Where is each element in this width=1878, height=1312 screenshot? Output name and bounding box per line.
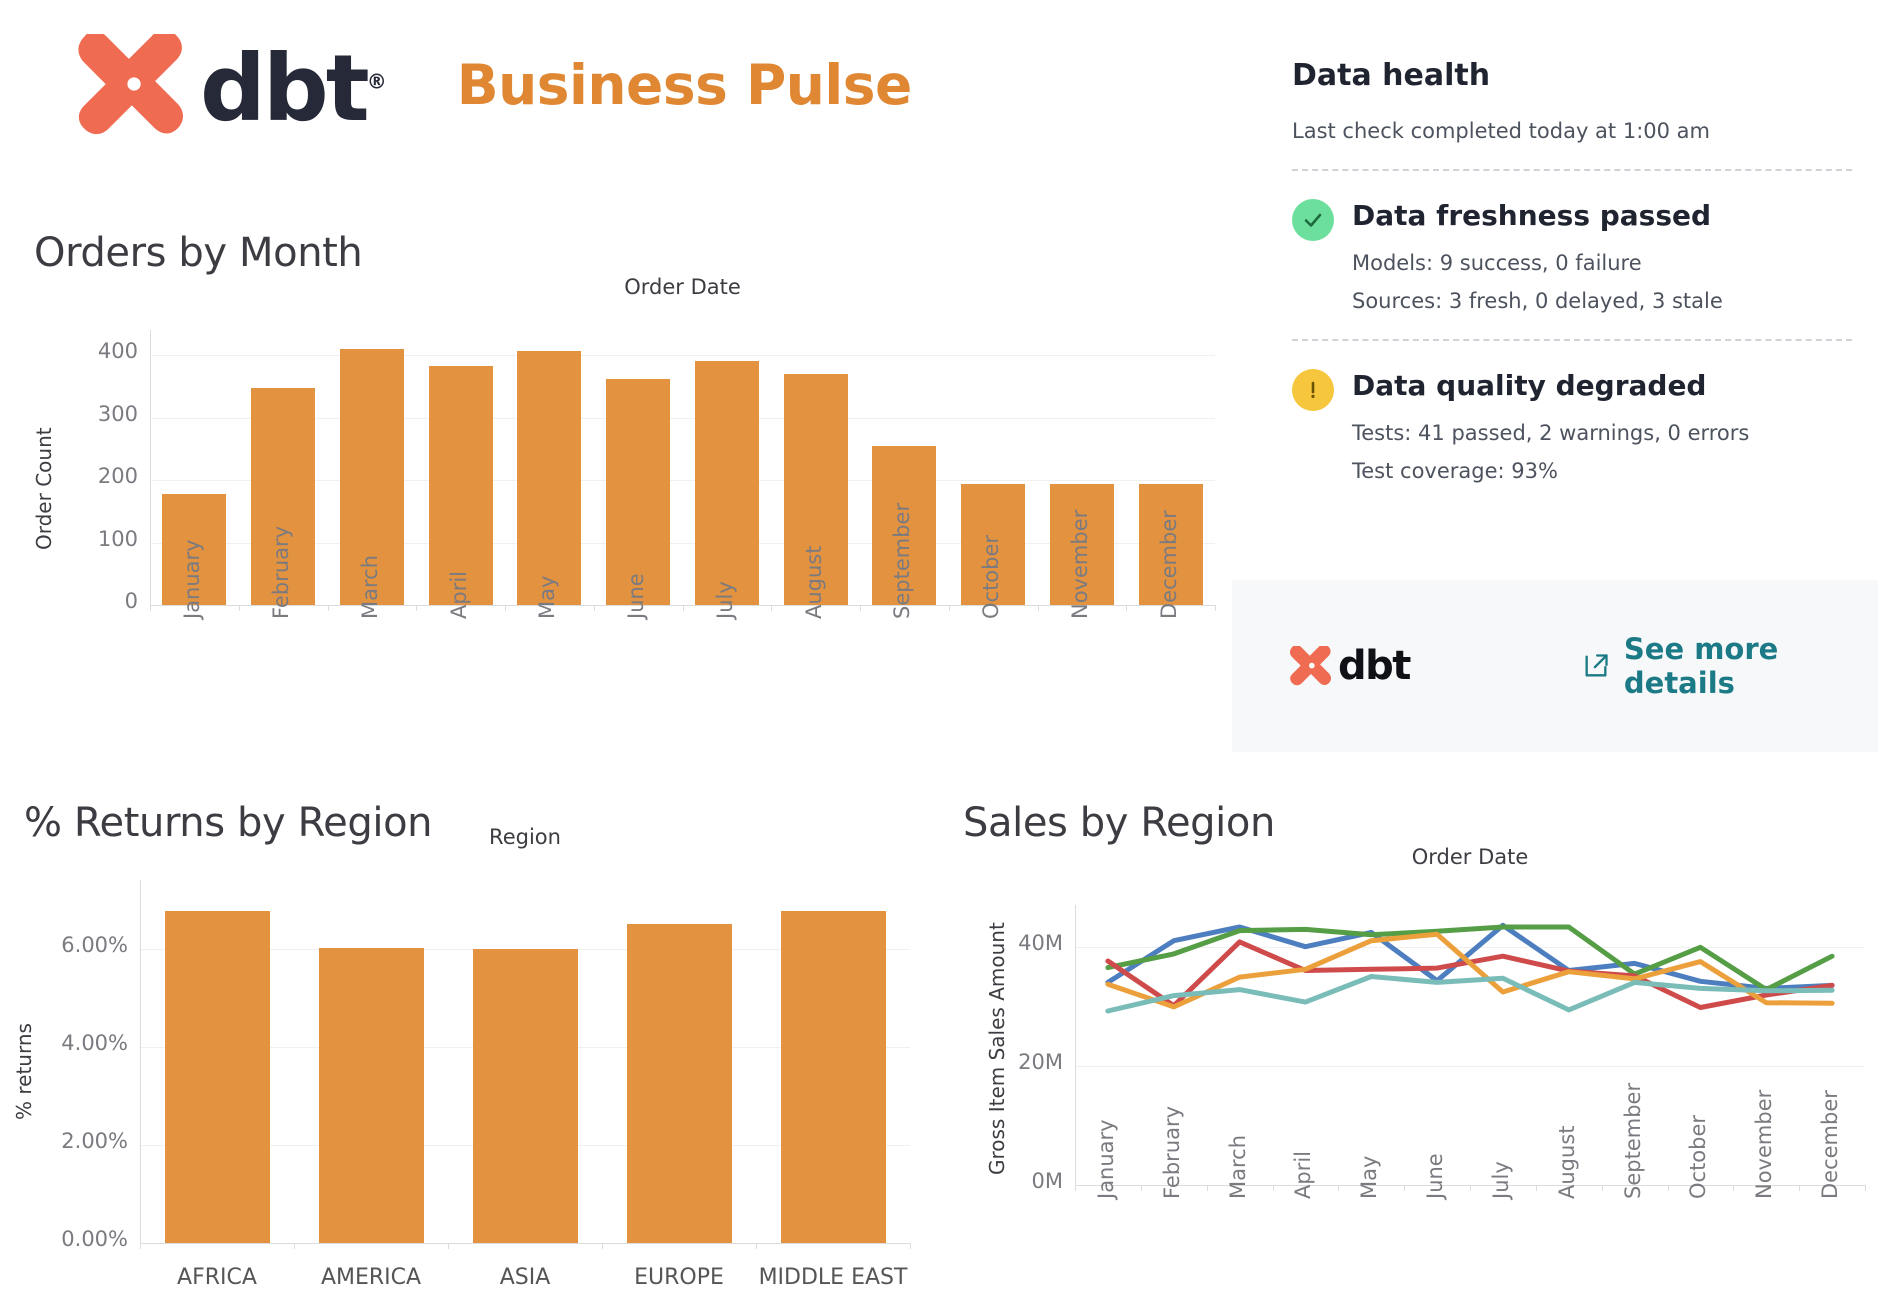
sales-x-tick-label: May [1357,1156,1381,1199]
sales-x-tick-label: April [1291,1151,1315,1199]
sales-x-tick [1602,1185,1603,1191]
sales-y-tick-label: 0M [997,1169,1063,1193]
sales-x-tick-label: June [1423,1153,1447,1199]
cta-dbt-wordmark: dbt [1338,646,1410,686]
sales-line-series-orange[interactable] [1108,934,1832,1007]
sales-x-tick-label: January [1094,1119,1118,1199]
dashboard-page: dbt® Business Pulse Orders by Month Orde… [0,0,1878,1312]
status-quality-heading: Data quality degraded [1352,367,1706,405]
sales-x-tick [1273,1185,1274,1191]
dbt-x-logo-icon [1290,646,1332,686]
data-health-title: Data health [1292,58,1852,93]
cta-dbt-logo: dbt [1290,646,1410,686]
sales-line-series-blue[interactable] [1108,925,1832,988]
divider [1292,169,1852,171]
sales-gridline [1075,947,1865,948]
last-check-text: Last check completed today at 1:00 am [1292,119,1852,143]
status-freshness-line-1: Models: 9 success, 0 failure [1352,251,1852,275]
sales-x-tick [1668,1185,1669,1191]
sales-x-tick-label: December [1818,1090,1842,1199]
sales-x-tick [1141,1185,1142,1191]
sales-line-series-green[interactable] [1108,927,1832,990]
sales-y-tick-label: 20M [997,1050,1063,1074]
sales-x-tick-label: July [1489,1161,1513,1199]
sales-gridline [1075,1066,1865,1067]
sales-x-tick [1207,1185,1208,1191]
sales-x-tick [1470,1185,1471,1191]
sales-x-tick [1733,1185,1734,1191]
sales-y-axis [1075,905,1076,1185]
sales-x-tick-label: November [1752,1090,1776,1199]
divider [1292,339,1852,341]
status-quality-line-1: Tests: 41 passed, 2 warnings, 0 errors [1352,421,1852,445]
sales-x-tick [1536,1185,1537,1191]
sales-line-series-teal[interactable] [1108,977,1832,1012]
see-more-details-card: dbt See more details [1232,580,1878,752]
see-more-details-label: See more details [1624,632,1878,700]
data-health-panel: Data health Last check completed today a… [1292,58,1852,509]
sales-x-tick [1865,1185,1866,1191]
see-more-details-link[interactable]: See more details [1582,632,1878,700]
sales-x-tick [1799,1185,1800,1191]
sales-x-tick-label: October [1686,1115,1710,1199]
status-quality: Data quality degraded [1292,367,1852,411]
sales-x-tick [1404,1185,1405,1191]
status-freshness-heading: Data freshness passed [1352,197,1711,235]
status-freshness-details: Models: 9 success, 0 failure Sources: 3 … [1352,251,1852,313]
sales-y-tick-label: 40M [997,931,1063,955]
warning-circle-icon [1292,369,1334,411]
sales-chart-caption: Order Date [1075,845,1865,869]
sales-x-tick-label: August [1555,1126,1579,1200]
status-freshness-line-2: Sources: 3 fresh, 0 delayed, 3 stale [1352,289,1852,313]
check-circle-icon [1292,199,1334,241]
sales-line-series-red[interactable] [1108,942,1832,1008]
external-link-icon [1582,652,1610,680]
sales-x-tick-label: September [1621,1083,1645,1199]
sales-x-tick-label: March [1226,1135,1250,1199]
sales-x-tick [1338,1185,1339,1191]
status-quality-line-2: Test coverage: 93% [1352,459,1852,483]
sales-x-tick [1075,1185,1076,1191]
status-quality-details: Tests: 41 passed, 2 warnings, 0 errors T… [1352,421,1852,483]
status-freshness: Data freshness passed [1292,197,1852,241]
sales-x-tick-label: February [1160,1106,1184,1199]
